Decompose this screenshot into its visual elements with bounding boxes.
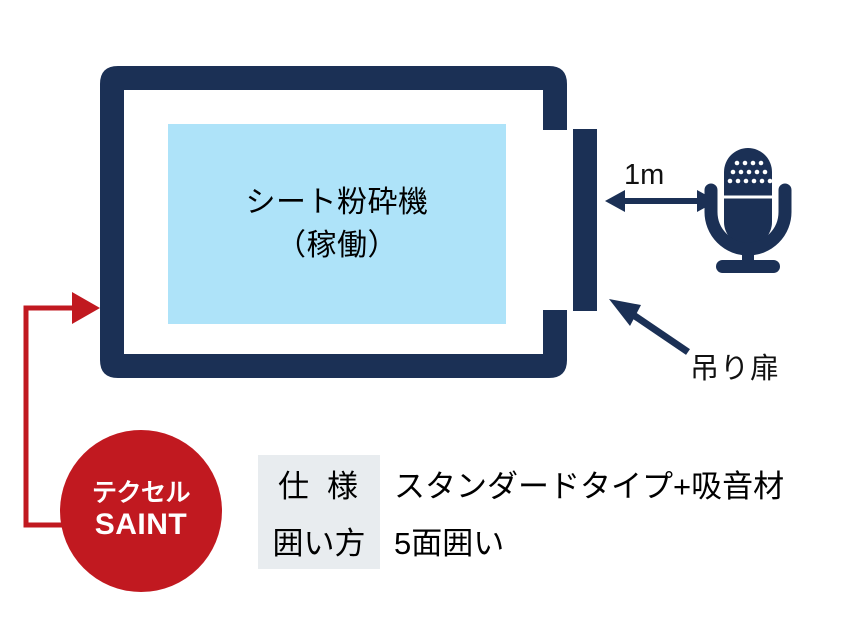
- distance-dimension-arrow: [605, 190, 717, 212]
- spec-key-specification: 仕様: [258, 455, 380, 512]
- machine-label-line2: （稼働）: [276, 224, 398, 268]
- spec-row: 仕様 スタンダードタイプ+吸音材: [258, 455, 784, 512]
- spec-table: 仕様 スタンダードタイプ+吸音材 囲い方 5面囲い: [258, 455, 784, 569]
- spec-value-enclosure-method: 5面囲い: [394, 512, 504, 569]
- spec-value-specification: スタンダードタイプ+吸音材: [394, 455, 784, 512]
- brand-logo-line2: SAINT: [95, 507, 188, 543]
- door-callout-arrow: [609, 299, 688, 352]
- microphone-icon: [711, 148, 785, 273]
- brand-logo-badge: テクセル SAINT: [60, 430, 222, 592]
- spec-key-enclosure-method: 囲い方: [258, 512, 380, 569]
- spec-row: 囲い方 5面囲い: [258, 512, 784, 569]
- distance-dimension-label: 1m: [624, 159, 664, 192]
- diagram-canvas: シート粉砕機 （稼働） 1m 吊り扉 テクセル SAINT 仕様 スタンダードタ…: [0, 0, 857, 630]
- brand-logo-line1: テクセル: [92, 479, 190, 508]
- machine-label-line1: シート粉砕機: [246, 181, 429, 225]
- machine-label: シート粉砕機 （稼働）: [168, 168, 506, 280]
- door-callout-label: 吊り扉: [690, 345, 780, 387]
- hanging-door-panel: [573, 129, 597, 311]
